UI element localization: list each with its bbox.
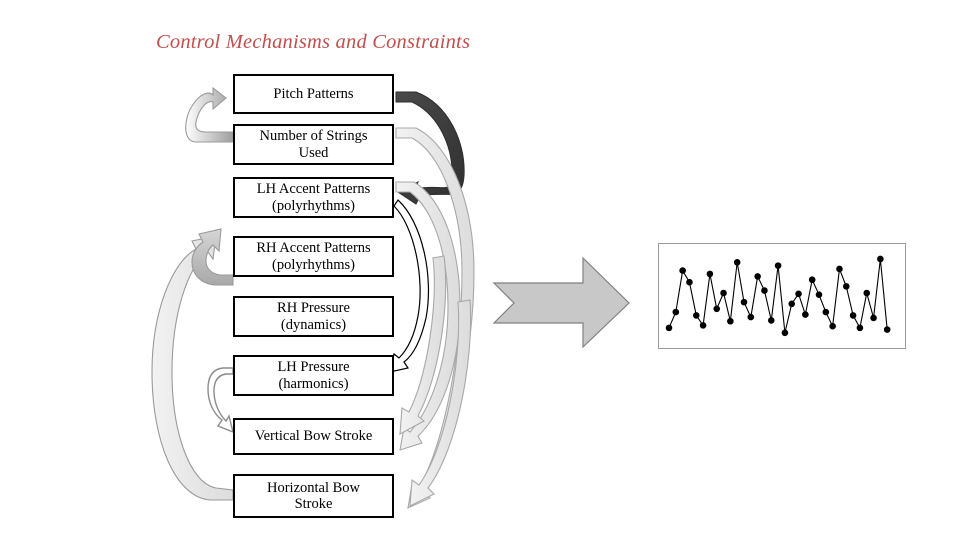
chart-point bbox=[666, 325, 673, 332]
chart-point bbox=[857, 325, 864, 332]
chart-point bbox=[795, 291, 802, 298]
mechanism-label-line2: Used bbox=[260, 145, 368, 161]
lh-pressure-to-vertical-arc bbox=[208, 368, 233, 432]
chart-point bbox=[761, 287, 768, 294]
chart-point bbox=[720, 290, 727, 297]
chart-point bbox=[775, 262, 782, 269]
chart-point bbox=[823, 309, 830, 316]
horizontal-to-rh-accent-arc bbox=[152, 236, 233, 500]
strings-to-pitch-arc bbox=[186, 88, 233, 142]
chart-point bbox=[836, 266, 843, 273]
result-block-arrow bbox=[494, 258, 629, 347]
chart-point bbox=[863, 290, 870, 297]
arc-to-horizontal-bow bbox=[410, 300, 471, 506]
strings-to-arc bbox=[396, 128, 474, 508]
mechanism-box-lh-accent-patterns[interactable]: LH Accent Patterns (polyrhythms) bbox=[233, 177, 394, 218]
chart-point bbox=[850, 312, 857, 319]
mechanism-box-vertical-bow-stroke[interactable]: Vertical Bow Stroke bbox=[233, 418, 394, 455]
chart-point bbox=[734, 259, 741, 266]
slide-canvas: Control Mechanisms and Constraints bbox=[0, 0, 960, 540]
chart-point-markers bbox=[666, 256, 891, 336]
chart-point bbox=[788, 301, 795, 308]
chart-point bbox=[686, 279, 693, 286]
mechanism-label-line2: Stroke bbox=[267, 496, 360, 512]
mechanism-box-number-of-strings[interactable]: Number of Strings Used bbox=[233, 124, 394, 165]
rh-pressure-to-rh-accent-arc bbox=[192, 229, 233, 285]
chart-point bbox=[679, 267, 686, 274]
chart-point bbox=[768, 317, 775, 324]
mechanism-label-line1: Vertical Bow Stroke bbox=[255, 428, 373, 444]
chart-point bbox=[713, 305, 720, 312]
pitch-to-rh-accent-arc bbox=[396, 92, 464, 204]
chart-point bbox=[877, 256, 884, 263]
arc-to-vertical-bow bbox=[400, 256, 446, 434]
chart-line-series bbox=[669, 259, 887, 333]
mechanism-label-line1: RH Accent Patterns bbox=[256, 240, 370, 256]
mechanism-label-line2: (polyrhythms) bbox=[257, 198, 371, 214]
mechanism-label-line1: RH Pressure bbox=[277, 300, 350, 316]
chart-point bbox=[693, 312, 700, 319]
chart-point bbox=[802, 311, 809, 318]
mechanism-label-line1: LH Accent Patterns bbox=[257, 181, 371, 197]
mechanism-label-line2: (polyrhythms) bbox=[256, 257, 370, 273]
chart-point bbox=[870, 315, 877, 322]
chart-point bbox=[843, 283, 850, 290]
mechanism-label-line1: Horizontal Bow bbox=[267, 480, 360, 496]
chart-point bbox=[816, 291, 823, 298]
chart-point bbox=[707, 271, 714, 278]
chart-point bbox=[673, 309, 680, 316]
chart-point bbox=[700, 322, 707, 329]
mechanism-label-line2: (dynamics) bbox=[277, 317, 350, 333]
mechanism-label-line1: Number of Strings bbox=[260, 128, 368, 144]
mechanism-box-horizontal-bow-stroke[interactable]: Horizontal Bow Stroke bbox=[233, 474, 394, 518]
lh-accent-to-lh-pressure bbox=[390, 200, 428, 372]
chart-point bbox=[884, 326, 891, 333]
mechanism-label-line1: Pitch Patterns bbox=[273, 86, 353, 102]
chart-point bbox=[741, 299, 748, 306]
mechanism-label-line1: LH Pressure bbox=[277, 359, 349, 375]
mechanism-label-line2: (harmonics) bbox=[277, 376, 349, 392]
chart-point bbox=[782, 330, 789, 337]
chart-point bbox=[829, 323, 836, 330]
result-zigzag-chart bbox=[659, 244, 904, 347]
chart-point bbox=[748, 314, 755, 321]
page-title: Control Mechanisms and Constraints bbox=[156, 31, 470, 54]
chart-point bbox=[809, 276, 816, 283]
mechanism-box-rh-pressure[interactable]: RH Pressure (dynamics) bbox=[233, 296, 394, 337]
lh-accent-to-arc bbox=[396, 182, 460, 450]
mechanism-box-lh-pressure[interactable]: LH Pressure (harmonics) bbox=[233, 355, 394, 396]
chart-point bbox=[754, 273, 761, 280]
chart-point bbox=[727, 318, 734, 325]
mechanism-box-rh-accent-patterns[interactable]: RH Accent Patterns (polyrhythms) bbox=[233, 236, 394, 277]
mechanism-box-pitch-patterns[interactable]: Pitch Patterns bbox=[233, 74, 394, 114]
result-chart-frame bbox=[658, 243, 906, 349]
